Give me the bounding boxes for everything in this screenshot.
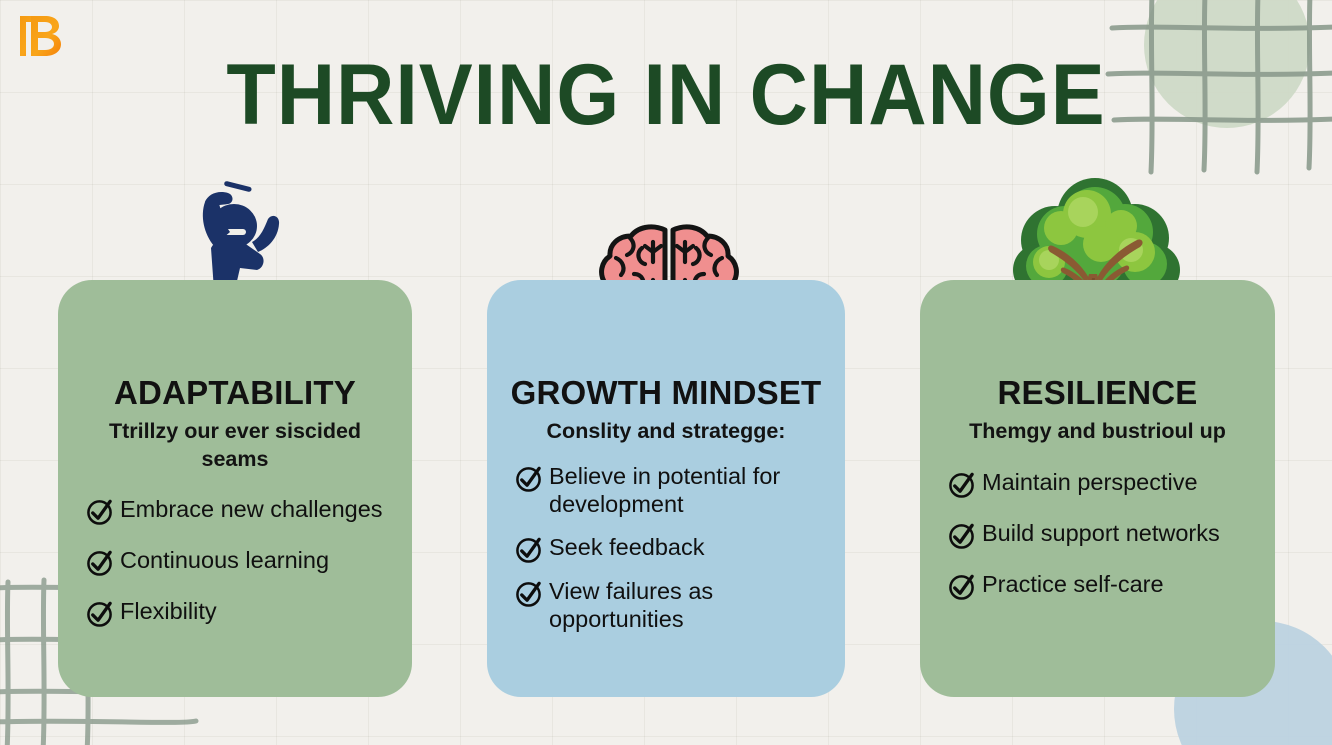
- check-circle-icon: [515, 580, 542, 607]
- list-item: Embrace new challenges: [86, 495, 390, 525]
- card-bullet-list: Believe in potential for development See…: [509, 462, 823, 649]
- list-item-label: Seek feedback: [549, 533, 823, 562]
- card-bullet-list: Embrace new challenges Continuous learni…: [80, 495, 390, 627]
- list-item-label: Build support networks: [982, 519, 1253, 548]
- check-circle-icon: [515, 536, 542, 563]
- card-title: GROWTH MINDSET: [511, 376, 822, 409]
- list-item: Practice self-care: [948, 570, 1253, 600]
- check-circle-icon: [86, 498, 113, 525]
- list-item: Maintain perspective: [948, 468, 1253, 498]
- card-resilience: RESILIENCE Themgy and bustrioul up Maint…: [920, 280, 1275, 697]
- slide-canvas: THRIVING IN CHANGE: [0, 0, 1332, 745]
- list-item-label: Practice self-care: [982, 570, 1253, 599]
- check-circle-icon: [948, 573, 975, 600]
- list-item: Seek feedback: [515, 533, 823, 563]
- list-item: Flexibility: [86, 597, 390, 627]
- card-growth-mindset: GROWTH MINDSET Conslity and strategge: B…: [487, 280, 845, 697]
- card-bullet-list: Maintain perspective Build support netwo…: [942, 468, 1253, 600]
- list-item: Continuous learning: [86, 546, 390, 576]
- card-adaptability: ADAPTABILITY Ttrillzy our ever siscided …: [58, 280, 412, 697]
- card-subtitle: Conslity and strategge:: [547, 418, 786, 446]
- check-circle-icon: [86, 600, 113, 627]
- list-item-label: Maintain perspective: [982, 468, 1253, 497]
- page-title: THRIVING IN CHANGE: [40, 52, 1292, 138]
- check-circle-icon: [948, 471, 975, 498]
- list-item-label: Embrace new challenges: [120, 495, 390, 524]
- check-circle-icon: [86, 549, 113, 576]
- card-title: ADAPTABILITY: [114, 376, 356, 409]
- check-circle-icon: [948, 522, 975, 549]
- check-circle-icon: [515, 465, 542, 492]
- list-item: View failures as opportunities: [515, 577, 823, 634]
- list-item-label: Flexibility: [120, 597, 390, 626]
- card-subtitle: Themgy and bustrioul up: [969, 418, 1226, 446]
- card-subtitle: Ttrillzy our ever siscided seams: [80, 418, 390, 473]
- list-item-label: Believe in potential for development: [549, 462, 823, 519]
- card-title: RESILIENCE: [997, 376, 1197, 409]
- list-item-label: View failures as opportunities: [549, 577, 823, 634]
- list-item-label: Continuous learning: [120, 546, 390, 575]
- list-item: Build support networks: [948, 519, 1253, 549]
- list-item: Believe in potential for development: [515, 462, 823, 519]
